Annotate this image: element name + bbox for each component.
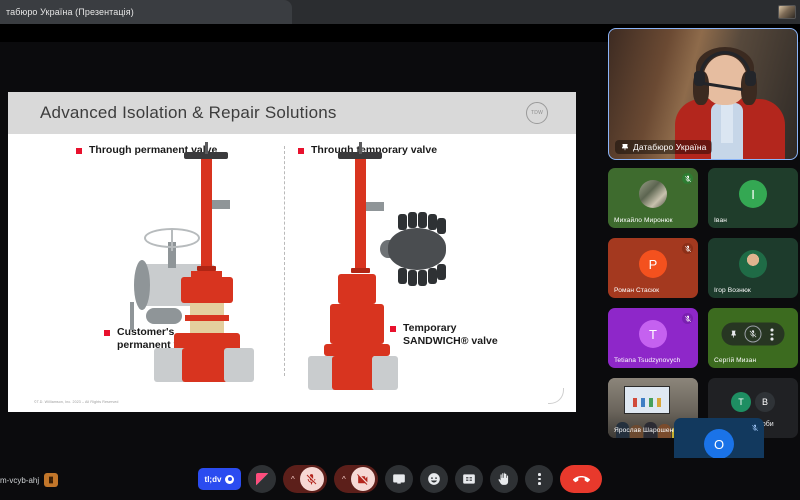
browser-tab-title: табюро Україна (Презентація)	[6, 7, 134, 17]
slide-title: Advanced Isolation & Repair Solutions	[40, 103, 337, 123]
mic-off-icon	[682, 243, 693, 254]
participant-name: Сергій Мизан	[714, 357, 756, 364]
slide-copyright: ©T.D. Williamson, Inc. 2023 – All Rights…	[34, 400, 118, 404]
mic-off-icon	[682, 313, 693, 324]
mic-off-icon	[300, 467, 324, 491]
pin-icon[interactable]	[726, 326, 743, 343]
shared-screen-thumbnail	[624, 386, 670, 414]
participant-name: Tetiana Tsudzynovych	[614, 357, 680, 364]
present-screen-icon	[392, 472, 406, 486]
toolbar-buttons: tl;dv ^ ^	[198, 465, 603, 493]
present-button[interactable]	[385, 465, 413, 493]
meeting-app-window: табюро Україна (Презентація) Advanced Is…	[0, 0, 800, 500]
participant-grid: Михайло Миронюк I Іван P Роман Стасюк	[608, 168, 798, 448]
participant-name: Ярослав Шарошенко	[614, 427, 680, 434]
end-call-button[interactable]	[560, 465, 602, 493]
more-vertical-icon	[538, 473, 541, 485]
camera-off-icon	[351, 467, 375, 491]
more-icon[interactable]	[764, 326, 781, 343]
participant-name: Ігор Вознюк	[714, 287, 751, 294]
participant-tile[interactable]: Михайло Миронюк	[608, 168, 698, 228]
brand-button[interactable]	[248, 465, 276, 493]
chevron-up-icon[interactable]: ^	[338, 475, 350, 484]
browser-titlebar: табюро Україна (Презентація)	[0, 0, 800, 24]
active-speaker-tile[interactable]: Датабюро Україна	[608, 28, 798, 160]
slide-body: Through permanent valve Through temporar…	[8, 134, 576, 412]
bullet-square-icon	[104, 330, 110, 336]
speaker-name-text: Датабюро Україна	[633, 142, 706, 152]
mic-off-icon	[749, 422, 760, 433]
avatar-initial: B	[762, 397, 768, 407]
record-icon	[225, 475, 234, 484]
avatar	[739, 250, 767, 278]
participant-name: Роман Стасюк	[614, 287, 659, 294]
participant-tile[interactable]: I Іван	[708, 168, 798, 228]
avatar: I	[739, 180, 767, 208]
meeting-code-text: m-vcyb-ahj	[0, 476, 39, 485]
avatar-initial: T	[649, 327, 657, 342]
pin-icon	[621, 143, 629, 151]
tdw-logo-icon: TDW	[526, 102, 548, 124]
hand-icon	[497, 472, 511, 486]
avatar: B	[755, 392, 775, 412]
chevron-up-icon[interactable]: ^	[287, 475, 299, 484]
avatar-initial: I	[751, 187, 755, 202]
call-toolbar: m-vcyb-ahj tl;dv ^ ^	[0, 458, 800, 500]
window-thumbnail-icon[interactable]	[778, 5, 796, 19]
raise-hand-button[interactable]	[490, 465, 518, 493]
mute-icon[interactable]	[745, 326, 762, 343]
tile-hover-controls[interactable]	[722, 323, 785, 346]
tdw-logo-text: TDW	[531, 110, 543, 116]
participant-tile[interactable]: Ігор Вознюк	[708, 238, 798, 298]
bullet-square-icon	[76, 148, 82, 154]
avatar	[639, 180, 667, 208]
browser-tab[interactable]: табюро Україна (Презентація)	[0, 0, 292, 24]
meeting-code: m-vcyb-ahj	[0, 473, 58, 487]
camera-button[interactable]: ^	[334, 465, 378, 493]
reactions-button[interactable]	[420, 465, 448, 493]
tabstrip-empty-area	[292, 0, 778, 24]
sandwich-valve-bundle	[380, 220, 456, 278]
door-icon[interactable]	[44, 473, 58, 487]
tldv-record-button[interactable]: tl;dv	[198, 468, 242, 490]
avatar: О	[704, 429, 734, 459]
participant-name: Михайло Миронюк	[614, 217, 673, 224]
presentation-stage: Advanced Isolation & Repair Solutions TD…	[0, 42, 604, 458]
avatar-initial: P	[649, 257, 658, 272]
avatar-initial: T	[738, 397, 744, 407]
mic-off-icon	[682, 173, 693, 184]
avatar: P	[639, 250, 667, 278]
captions-icon	[462, 472, 476, 486]
brand-icon	[256, 473, 269, 486]
microphone-button[interactable]: ^	[283, 465, 327, 493]
shared-slide[interactable]: Advanced Isolation & Repair Solutions TD…	[8, 92, 576, 412]
end-call-icon	[573, 471, 590, 488]
avatar-initial: О	[714, 437, 724, 452]
emoji-icon	[427, 472, 441, 486]
more-participants-avatars: T B	[731, 392, 775, 412]
participant-tile-hovered[interactable]: Сергій Мизан	[708, 308, 798, 368]
temporary-valve-illustration	[308, 142, 458, 382]
avatar: T	[639, 320, 667, 348]
participant-name: Іван	[714, 217, 727, 224]
bullet-square-icon	[298, 148, 304, 154]
permanent-valve-illustration	[138, 142, 288, 382]
tldv-label: tl;dv	[205, 475, 222, 484]
slide-swoosh-decoration	[548, 388, 564, 404]
captions-button[interactable]	[455, 465, 483, 493]
more-options-button[interactable]	[525, 465, 553, 493]
slide-header: Advanced Isolation & Repair Solutions TD…	[8, 92, 576, 134]
speaker-name-label: Датабюро Україна	[615, 140, 712, 154]
participant-tile[interactable]: P Роман Стасюк	[608, 238, 698, 298]
participant-rail: Датабюро Україна Михайло Миронюк I Іван	[608, 28, 798, 458]
participant-tile[interactable]: T Tetiana Tsudzynovych	[608, 308, 698, 368]
avatar: T	[731, 392, 751, 412]
